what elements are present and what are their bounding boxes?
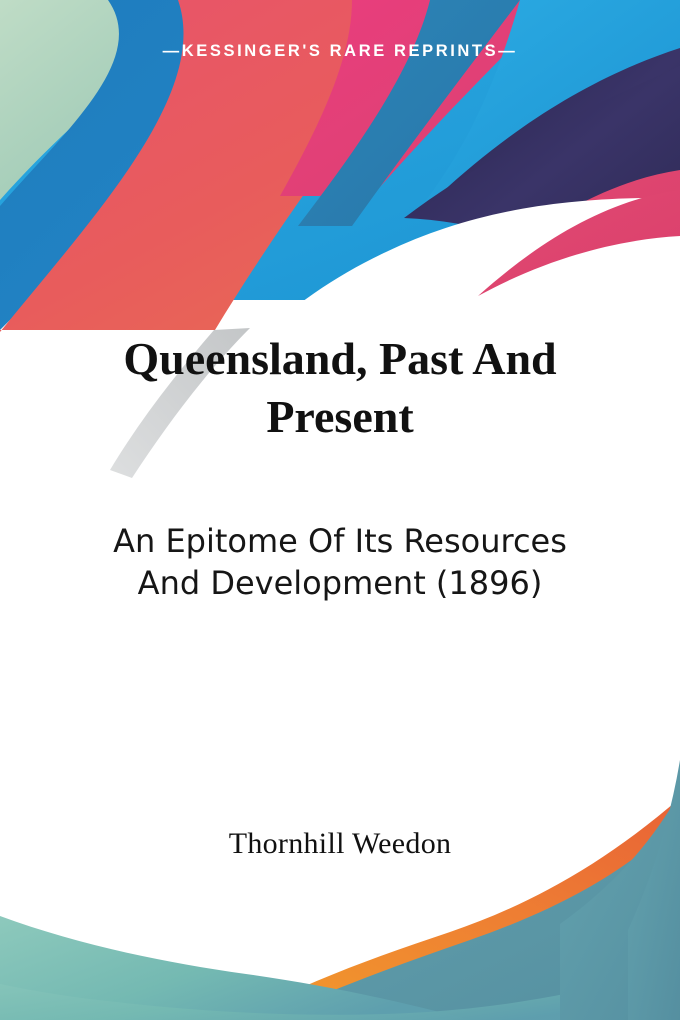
white-body-mask [0,198,680,1020]
book-cover: —KESSINGER'S RARE REPRINTS— Queensland, … [0,0,680,1020]
abstract-ribbon-header [0,0,680,1020]
pink-swoosh-accent [478,190,680,296]
book-subtitle: An Epitome Of Its Resources And Developm… [0,521,680,604]
imprint-label: —KESSINGER'S RARE REPRINTS— [0,42,680,61]
book-title: Queensland, Past And Present [0,330,680,447]
book-author: Thornhill Weedon [0,827,680,861]
